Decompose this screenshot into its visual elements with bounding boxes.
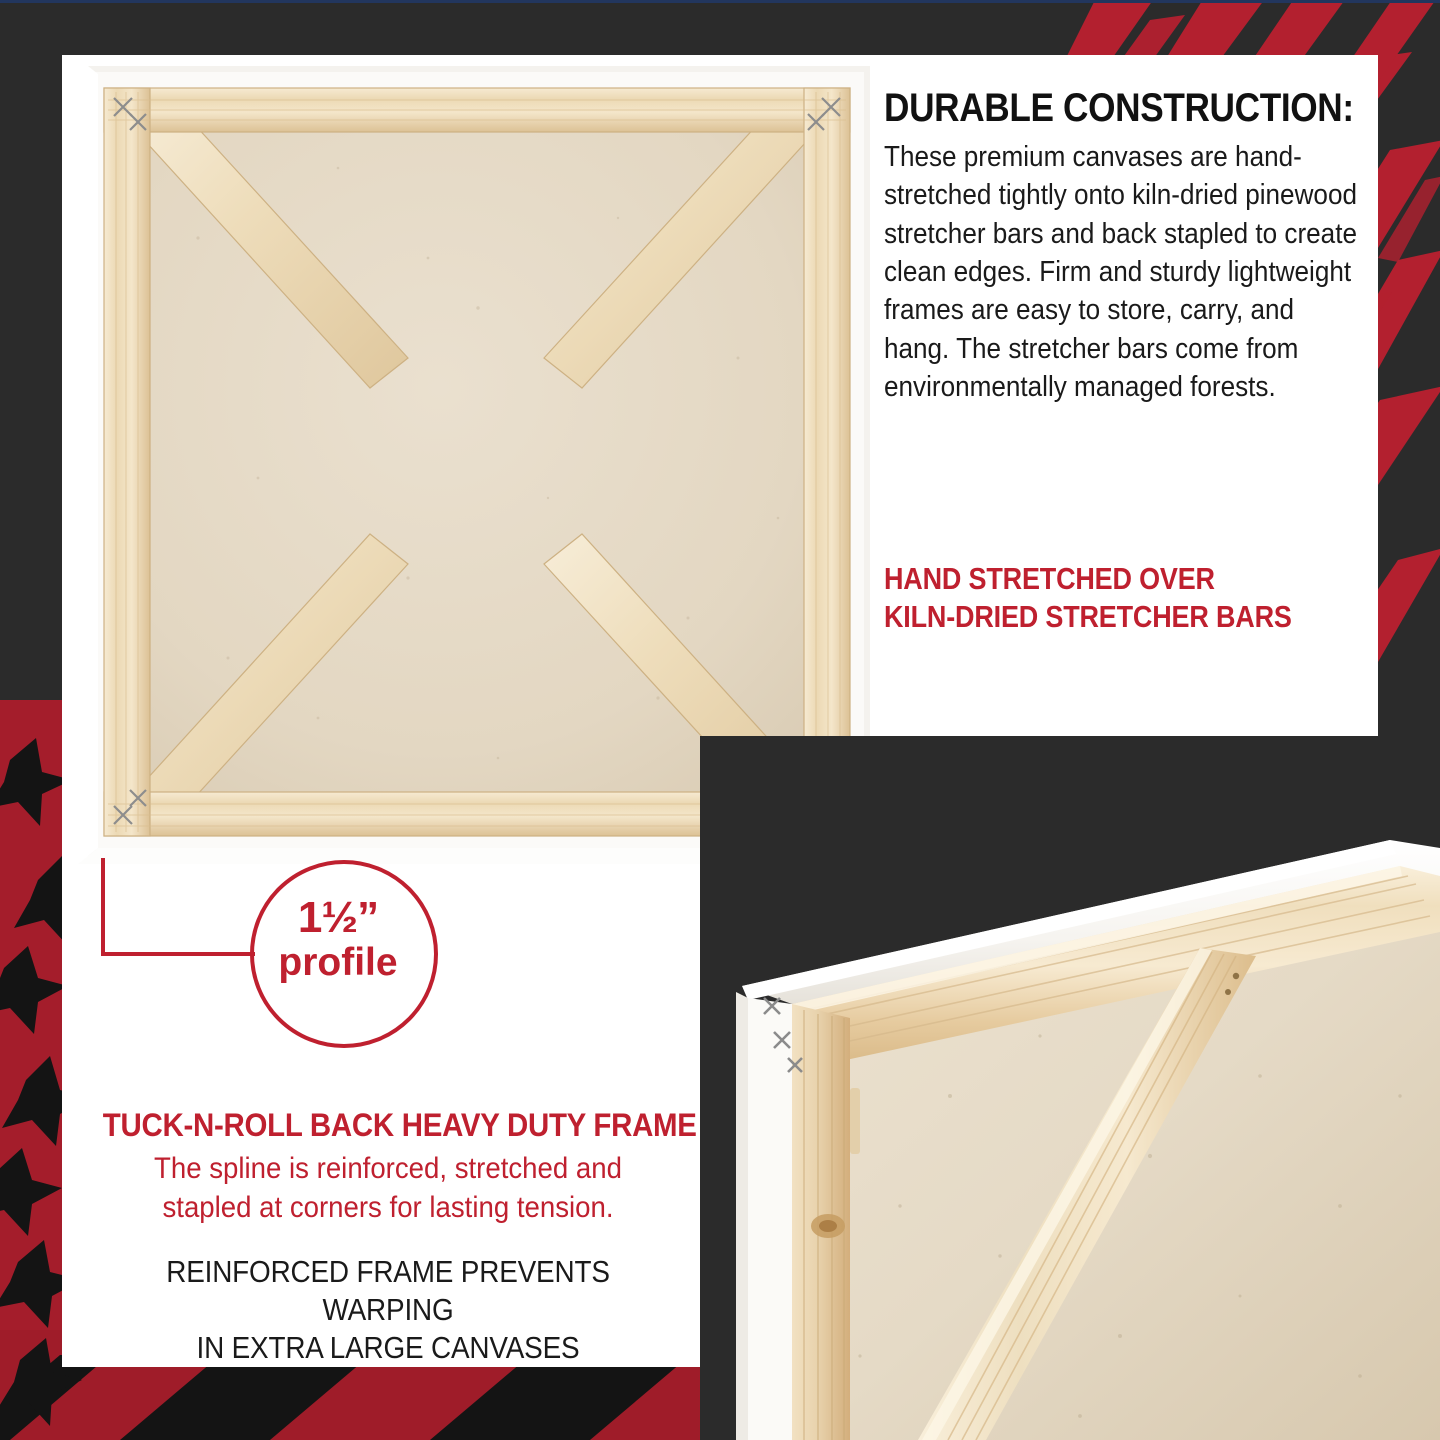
tuck-n-roll-section: TUCK-N-ROLL BACK HEAVY DUTY FRAME The sp… [78, 1108, 698, 1367]
tuck-n-roll-subtitle: The spline is reinforced, stretched and … [103, 1149, 673, 1227]
hand-stretched-line-2: KILN-DRIED STRETCHER BARS [884, 598, 1293, 636]
profile-callout-text: 1½” profile [238, 895, 438, 983]
profile-label: profile [238, 942, 438, 983]
tuck-n-roll-subtitle-line-1: The spline is reinforced, stretched and [103, 1149, 673, 1188]
reinforced-frame-line-1: REINFORCED FRAME PREVENTS WARPING [109, 1253, 667, 1329]
profile-measure: 1½” [238, 895, 438, 942]
durable-construction-body: These premium canvases are hand-stretche… [884, 138, 1361, 406]
hand-stretched-kicker: HAND STRETCHED OVER KILN-DRIED STRETCHER… [884, 560, 1293, 637]
reinforced-frame-footer: REINFORCED FRAME PREVENTS WARPING IN EXT… [109, 1253, 667, 1366]
tuck-n-roll-subtitle-line-2: stapled at corners for lasting tension. [103, 1188, 673, 1227]
top-hairline [0, 0, 1440, 3]
page-title: DURABLE CONSTRUCTION: [884, 88, 1305, 129]
infographic-root: DURABLE CONSTRUCTION: These premium canv… [0, 0, 1440, 1440]
reinforced-frame-line-2: IN EXTRA LARGE CANVASES [109, 1329, 667, 1367]
canvas-corner-detail-photo [700, 736, 1440, 1440]
durable-construction-section: DURABLE CONSTRUCTION: These premium canv… [884, 88, 1362, 406]
hand-stretched-line-1: HAND STRETCHED OVER [884, 560, 1293, 598]
tuck-n-roll-title: TUCK-N-ROLL BACK HEAVY DUTY FRAME [103, 1108, 673, 1143]
